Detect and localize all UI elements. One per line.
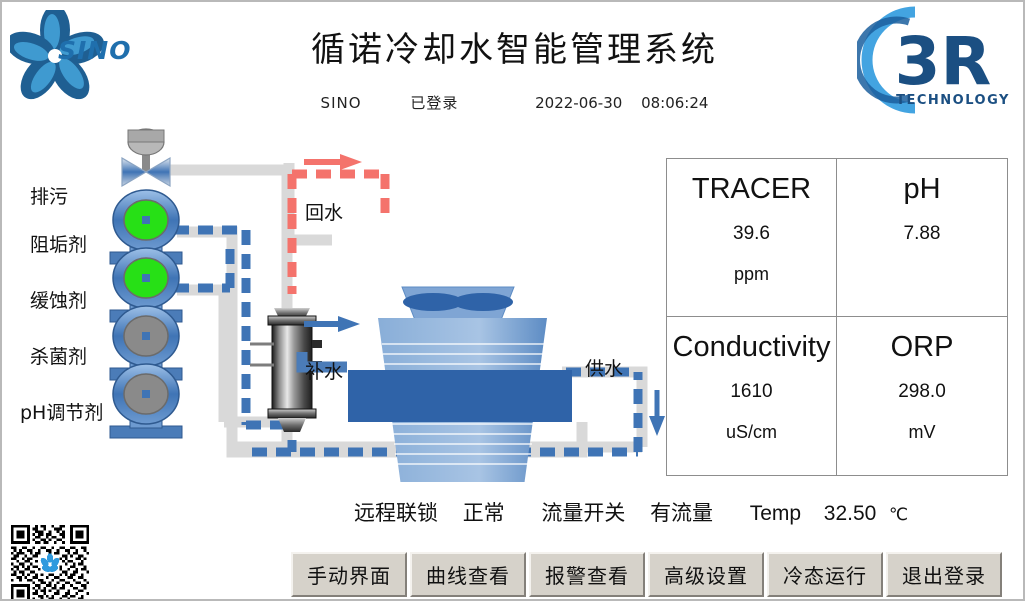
orp-unit: mV (909, 422, 936, 443)
conductivity-value: 1610 (730, 381, 772, 403)
measurement-panel: TRACER 39.6 ppm pH 7.88 Conductivity 161… (666, 158, 1008, 476)
orp-value: 298.0 (898, 381, 946, 403)
cold-start-button[interactable]: 冷态运行 (767, 552, 883, 597)
supply-water-label: 供水 (585, 354, 623, 381)
flow-switch-value: 有流量 (650, 501, 713, 525)
makeup-water-label: 补水 (305, 357, 343, 384)
login-status: 已登录 (410, 92, 458, 113)
bottom-button-bar: 手动界面 曲线查看 报警查看 高级设置 冷态运行 退出登录 (291, 552, 1002, 597)
blowdown-valve-icon (122, 129, 170, 186)
svg-text:3R: 3R (895, 23, 992, 100)
interlock-label: 远程联锁 (354, 501, 438, 525)
application-window: SINO 循诺冷却水智能管理系统 SINO 已登录 2022-06-30 08:… (0, 0, 1025, 601)
return-flow-arrow (304, 154, 362, 170)
measurement-cell-tracer: TRACER 39.6 ppm (667, 159, 837, 317)
conductivity-unit: uS/cm (726, 422, 777, 443)
system-status-strip: 远程联锁 正常 流量开关 有流量 Temp 32.50 ℃ (354, 497, 908, 527)
temperature-value: 32.50 (824, 502, 877, 525)
temperature-label: Temp (750, 502, 801, 525)
advanced-settings-button[interactable]: 高级设置 (648, 552, 764, 597)
conductivity-name: Conductivity (673, 331, 831, 364)
tracer-unit: ppm (734, 264, 769, 285)
alarm-view-button[interactable]: 报警查看 (529, 552, 645, 597)
system-date: 2022-06-30 (535, 94, 622, 112)
ph-value: 7.88 (904, 223, 941, 245)
tracer-name: TRACER (692, 173, 811, 206)
measurement-cell-orp: ORP 298.0 mV (837, 317, 1007, 475)
logout-button[interactable]: 退出登录 (886, 552, 1002, 597)
process-flow-diagram (2, 122, 667, 482)
dosing-pump-4 (110, 364, 182, 438)
measurement-cell-ph: pH 7.88 (837, 159, 1007, 317)
temperature-unit: ℃ (889, 505, 908, 525)
measurement-cell-conductivity: Conductivity 1610 uS/cm (667, 317, 837, 475)
supply-flow-arrow (649, 390, 665, 436)
flow-switch-label: 流量开关 (541, 501, 625, 525)
ph-name: pH (903, 173, 940, 206)
current-user: SINO (321, 94, 362, 112)
interlock-value: 正常 (463, 501, 505, 525)
manual-interface-button[interactable]: 手动界面 (291, 552, 407, 597)
return-water-label: 回水 (305, 198, 343, 225)
3r-technology-logo-icon: 3R TECHNOLOGY (857, 4, 1017, 116)
orp-name: ORP (891, 331, 954, 364)
curve-view-button[interactable]: 曲线查看 (410, 552, 526, 597)
qr-code-icon (10, 525, 90, 601)
system-time: 08:06:24 (641, 94, 708, 112)
svg-text:TECHNOLOGY: TECHNOLOGY (896, 93, 1010, 108)
tracer-value: 39.6 (733, 223, 770, 245)
tower-basin (348, 370, 572, 422)
